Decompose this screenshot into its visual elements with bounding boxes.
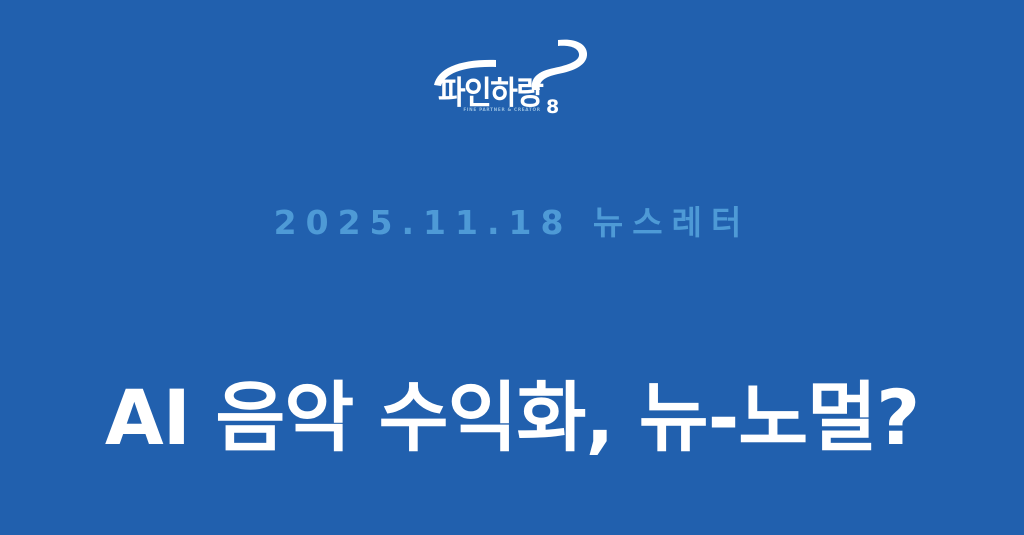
newsletter-banner: 파인하랑 FINE PARTNER & CREATOR 8 2025.11.18… bbox=[0, 0, 1024, 535]
logo-wordmark: 파인하랑 bbox=[438, 78, 586, 110]
brand-logo-inner: 파인하랑 FINE PARTNER & CREATOR 8 bbox=[428, 38, 596, 130]
newsletter-date-label: 2025.11.18 뉴스레터 bbox=[0, 203, 1024, 243]
logo-tagline: FINE PARTNER & CREATOR bbox=[463, 108, 541, 112]
page-title: AI 음악 수익화, 뉴-노멀? bbox=[0, 376, 1024, 460]
logo-badge-eight: 8 bbox=[546, 98, 559, 117]
brand-logo[interactable]: 파인하랑 FINE PARTNER & CREATOR 8 bbox=[0, 38, 1024, 130]
